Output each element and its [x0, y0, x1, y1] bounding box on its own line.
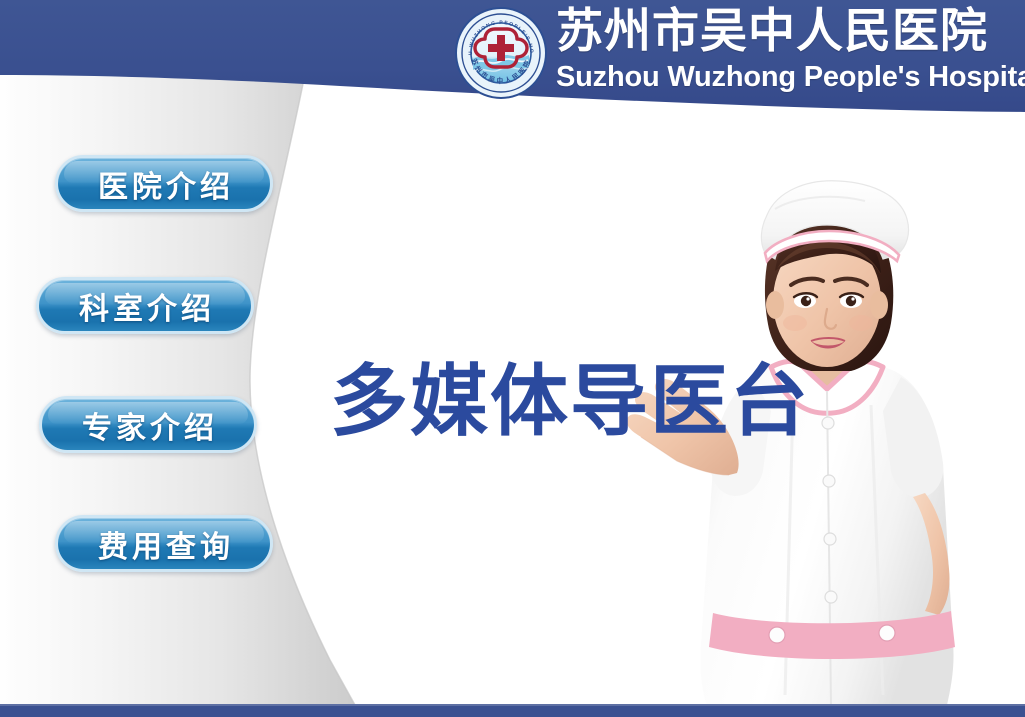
nav-department-intro-label: 科室介绍: [75, 284, 215, 328]
nav-department-intro[interactable]: 科室介绍: [36, 277, 254, 334]
kiosk-screen: SUZHOU WUZHONG PEOPLE'S HOSPITAL 苏州市吴中人民…: [0, 0, 1025, 717]
nav-hospital-intro[interactable]: 医院介绍: [55, 155, 273, 212]
brand-block: SUZHOU WUZHONG PEOPLE'S HOSPITAL 苏州市吴中人民…: [448, 0, 1025, 112]
nav-expert-intro-label: 专家介绍: [78, 403, 218, 447]
hospital-name-cn: 苏州市吴中人民医院: [556, 4, 1025, 58]
nav-fee-inquiry[interactable]: 费用查询: [55, 515, 273, 572]
nav-hospital-intro-label: 医院介绍: [94, 162, 234, 206]
hospital-name-en: Suzhou Wuzhong People's Hospital: [556, 60, 1025, 94]
footer-bar: [0, 704, 1025, 717]
nav-expert-intro[interactable]: 专家介绍: [39, 396, 257, 453]
nav-button-group: 医院介绍 科室介绍 专家介绍 费用查询: [0, 0, 320, 717]
nav-fee-inquiry-label: 费用查询: [94, 522, 234, 566]
page-title: 多媒体导医台: [330, 358, 810, 444]
brand-text: 苏州市吴中人民医院 Suzhou Wuzhong People's Hospit…: [556, 4, 1025, 94]
hospital-logo-icon: SUZHOU WUZHONG PEOPLE'S HOSPITAL 苏州市吴中人民…: [455, 7, 547, 99]
